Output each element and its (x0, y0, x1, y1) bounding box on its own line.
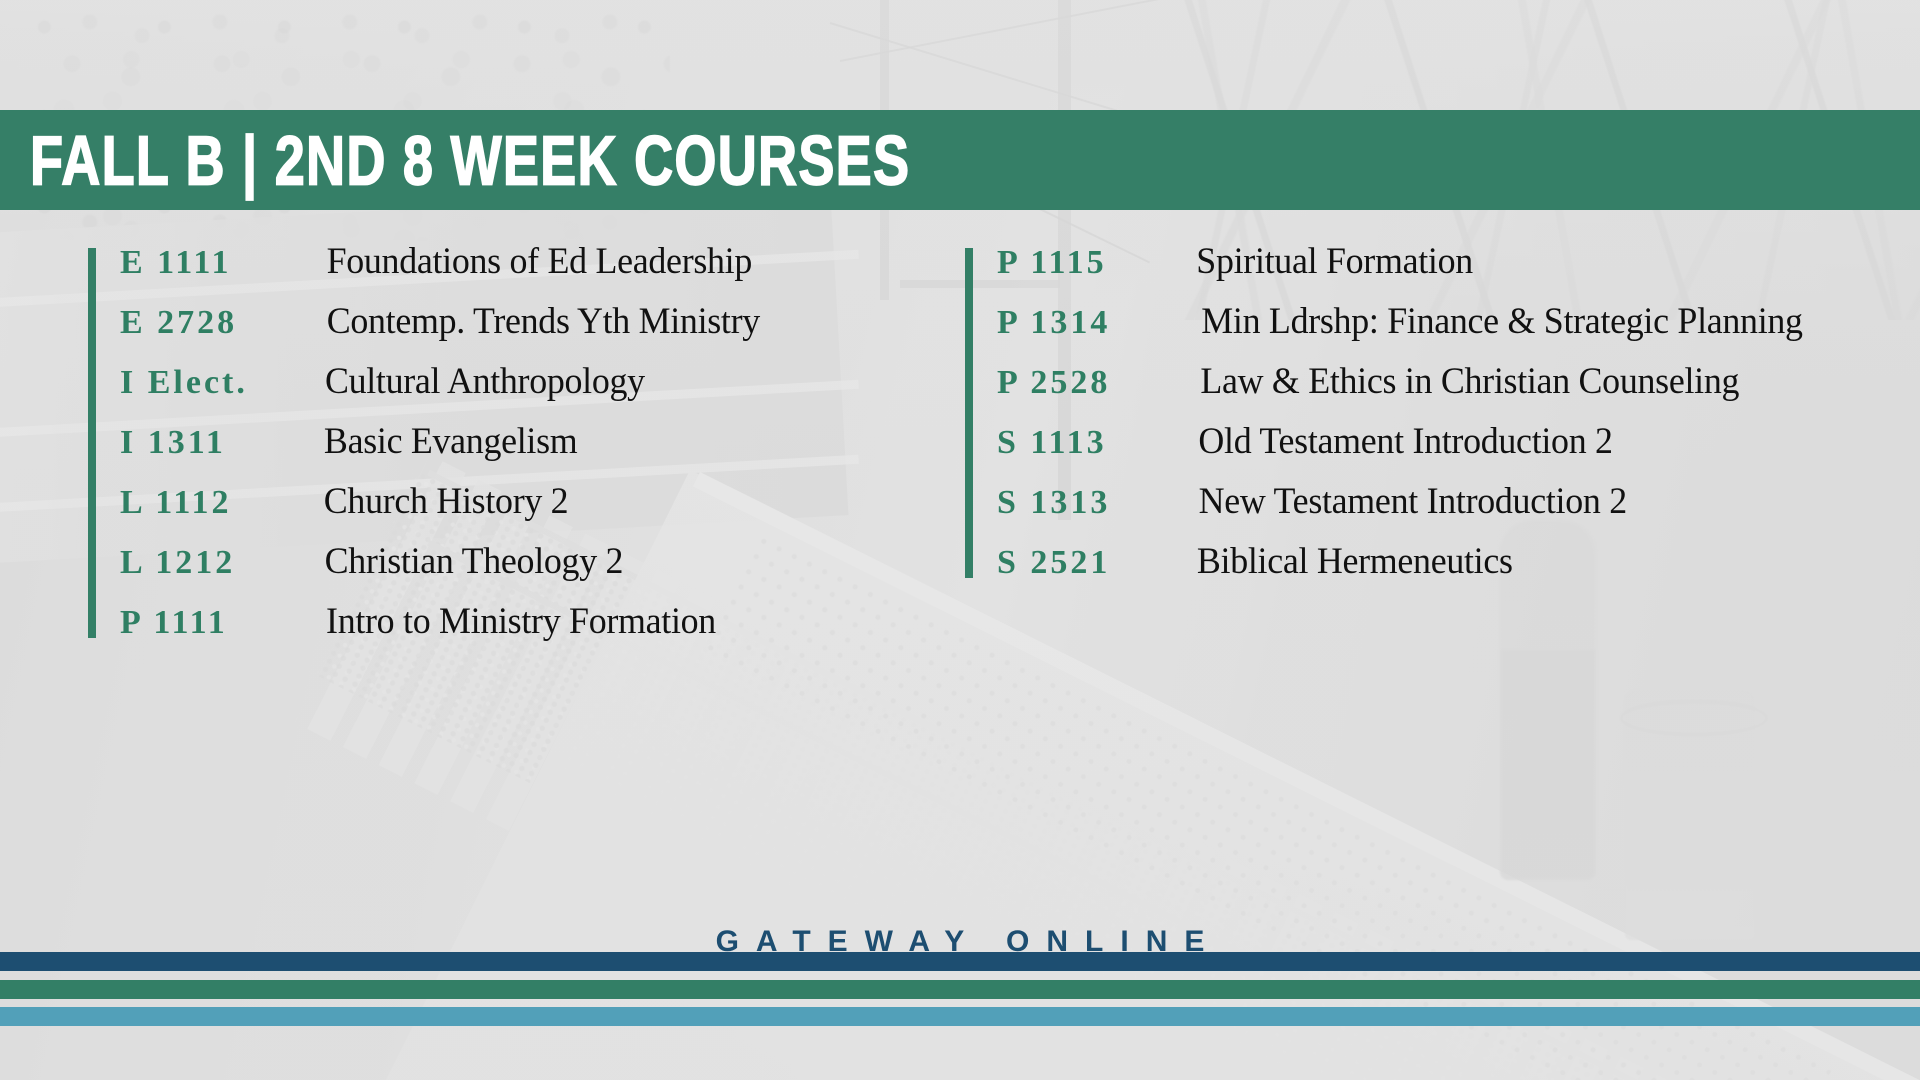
course-row: S 1113 Old Testament Introduction 2 (997, 420, 1812, 480)
course-column-left: E 1111 Foundations of Ed Leadership E 27… (88, 240, 767, 660)
course-name: Intro to Ministry Formation (326, 600, 716, 643)
course-list-left: E 1111 Foundations of Ed Leadership E 27… (88, 240, 767, 660)
course-code: P 1115 (997, 244, 1192, 282)
course-name: New Testament Introduction 2 (1199, 480, 1627, 523)
course-row: S 2521 Biblical Hermeneutics (997, 540, 1812, 600)
course-row: P 1314 Min Ldrshp: Finance & Strategic P… (997, 300, 1812, 360)
course-name: Biblical Hermeneutics (1197, 540, 1513, 583)
slide-canvas: FALL B | 2ND 8 WEEK COURSES E 1111 Found… (0, 0, 1920, 1080)
course-code: E 2728 (120, 304, 320, 342)
page-title: FALL B | 2ND 8 WEEK COURSES (30, 127, 1104, 193)
course-name: Spiritual Formation (1196, 240, 1473, 283)
course-list-right: P 1115 Spiritual Formation P 1314 Min Ld… (965, 240, 1812, 600)
footer-bar-blue (0, 1007, 1920, 1026)
course-row: E 1111 Foundations of Ed Leadership (120, 240, 767, 300)
header-band: FALL B | 2ND 8 WEEK COURSES (0, 110, 1920, 210)
course-name: Law & Ethics in Christian Counseling (1200, 360, 1739, 403)
course-code: S 2521 (997, 544, 1192, 582)
footer-brand: GATEWAY ONLINE (0, 925, 1920, 959)
course-name: Contemp. Trends Yth Ministry (327, 300, 760, 343)
course-row: P 1115 Spiritual Formation (997, 240, 1812, 300)
course-code: P 2528 (997, 364, 1192, 402)
course-row: L 1112 Church History 2 (120, 480, 767, 540)
course-code: P 1111 (120, 604, 320, 642)
course-code: S 1113 (997, 424, 1192, 462)
course-row: I 1311 Basic Evangelism (120, 420, 767, 480)
course-code: L 1112 (120, 484, 320, 522)
course-name: Cultural Anthropology (325, 360, 645, 403)
course-name: Old Testament Introduction 2 (1198, 420, 1612, 463)
page-title-text: FALL B | 2ND 8 WEEK COURSES (30, 125, 910, 195)
course-code: P 1314 (997, 304, 1192, 342)
course-row: I Elect. Cultural Anthropology (120, 360, 767, 420)
course-code: I 1311 (120, 424, 320, 462)
course-row: E 2728 Contemp. Trends Yth Ministry (120, 300, 767, 360)
footer-bar-green (0, 980, 1920, 999)
course-row: P 1111 Intro to Ministry Formation (120, 600, 767, 660)
column-accent-rule-right (965, 248, 973, 578)
course-name: Min Ldrshp: Finance & Strategic Planning (1201, 300, 1802, 343)
course-code: L 1212 (120, 544, 320, 582)
course-name: Foundations of Ed Leadership (327, 240, 752, 283)
course-name: Basic Evangelism (324, 420, 578, 463)
course-code: S 1313 (997, 484, 1192, 522)
course-row: P 2528 Law & Ethics in Christian Counsel… (997, 360, 1812, 420)
course-code: I Elect. (120, 364, 320, 402)
course-row: L 1212 Christian Theology 2 (120, 540, 767, 600)
course-column-right: P 1115 Spiritual Formation P 1314 Min Ld… (965, 240, 1812, 600)
course-name: Christian Theology 2 (325, 540, 624, 583)
course-row: S 1313 New Testament Introduction 2 (997, 480, 1812, 540)
course-name: Church History 2 (324, 480, 569, 523)
column-accent-rule-left (88, 248, 96, 638)
course-code: E 1111 (120, 244, 320, 282)
